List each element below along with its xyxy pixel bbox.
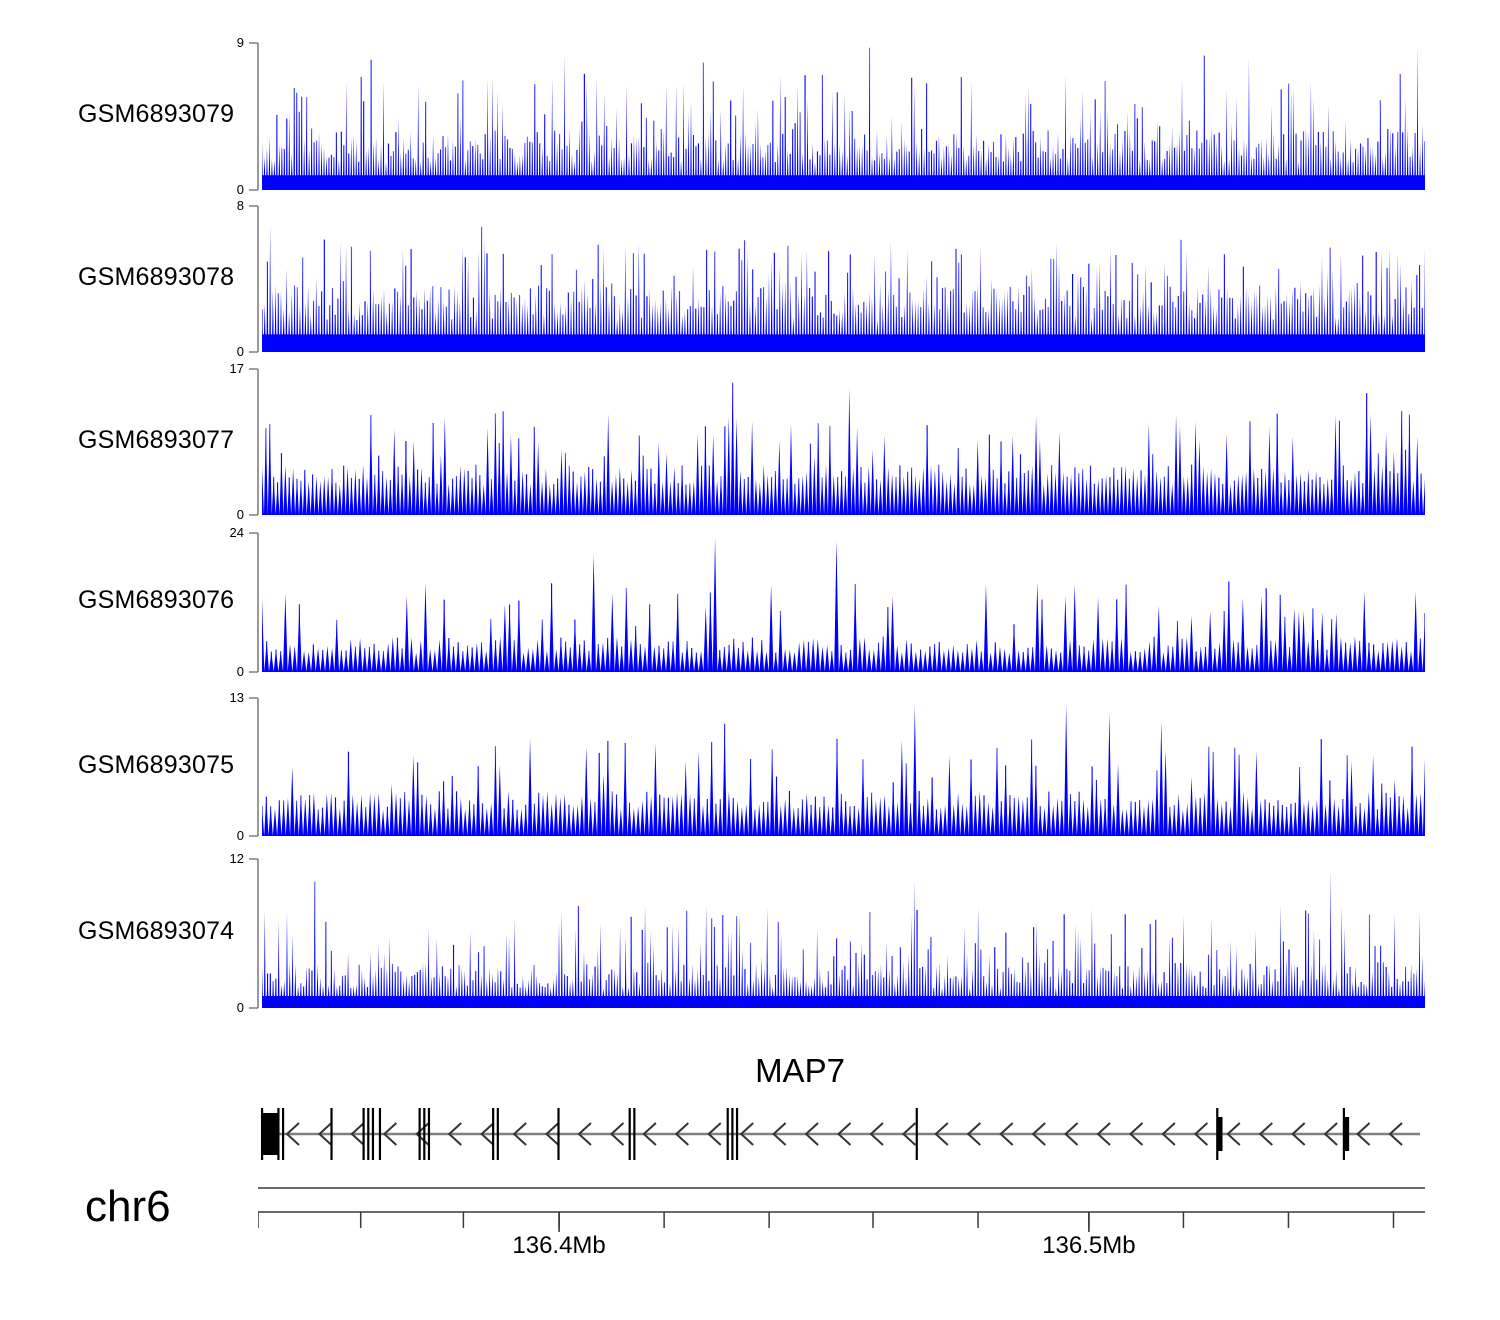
coverage-profile (262, 42, 1425, 190)
y-axis-max-label: 8 (196, 199, 244, 212)
coverage-track: GSM689307990 (0, 42, 1500, 190)
track-label-GSM6893076: GSM6893076 (78, 586, 234, 615)
y-axis-min-label: 0 (196, 665, 244, 678)
coverage-profile (262, 205, 1425, 352)
chromosome-label: chr6 (85, 1182, 171, 1232)
track-label-GSM6893078: GSM6893078 (78, 263, 234, 292)
exon-block (1344, 1117, 1349, 1151)
axis-tick-label: 136.5Mb (1042, 1232, 1135, 1260)
y-axis (248, 697, 262, 838)
axis-tick-labels: 136.4Mb136.5Mb (0, 1232, 1500, 1272)
y-axis-max-label: 12 (196, 852, 244, 865)
track-label-GSM6893074: GSM6893074 (78, 917, 234, 946)
track-label-GSM6893077: GSM6893077 (78, 426, 234, 455)
gene-model-svg (258, 1098, 1425, 1170)
genome-axis (258, 1186, 1425, 1237)
exon-block (1217, 1117, 1222, 1151)
y-axis (248, 368, 262, 517)
y-axis-min-label: 0 (196, 183, 244, 196)
coverage-track: GSM6893077170 (0, 368, 1500, 515)
coverage-profile (262, 532, 1425, 672)
y-axis-min-label: 0 (196, 508, 244, 521)
y-axis-min-label: 0 (196, 345, 244, 358)
y-axis-max-label: 24 (196, 526, 244, 539)
coverage-track: GSM689307880 (0, 205, 1500, 352)
axis-ticks (258, 1212, 1393, 1232)
y-axis-min-label: 0 (196, 829, 244, 842)
genome-browser-figure: GSM689307990GSM689307880GSM6893077170GSM… (0, 0, 1500, 1320)
coverage-track: GSM6893076240 (0, 532, 1500, 672)
y-axis-max-label: 13 (196, 691, 244, 704)
y-axis (248, 42, 262, 192)
gene-model-region: MAP7 (0, 1040, 1500, 1190)
gene-name-text: MAP7 (755, 1052, 845, 1089)
track-label-GSM6893075: GSM6893075 (78, 751, 234, 780)
y-axis-min-label: 0 (196, 1001, 244, 1014)
y-axis (248, 858, 262, 1010)
y-axis-max-label: 17 (196, 362, 244, 375)
coverage-track: GSM6893074120 (0, 858, 1500, 1008)
coverage-track: GSM6893075130 (0, 697, 1500, 836)
y-axis (248, 205, 262, 354)
utr-block (263, 1113, 278, 1155)
track-label-GSM6893079: GSM6893079 (78, 100, 234, 129)
coverage-profile (262, 368, 1425, 515)
coverage-profile (262, 858, 1425, 1008)
y-axis-max-label: 9 (196, 36, 244, 49)
gene-name-label: MAP7 (0, 1052, 1500, 1090)
axis-tick-label: 136.4Mb (512, 1232, 605, 1260)
y-axis (248, 532, 262, 674)
coverage-profile (262, 697, 1425, 836)
axis-svg (258, 1186, 1425, 1232)
